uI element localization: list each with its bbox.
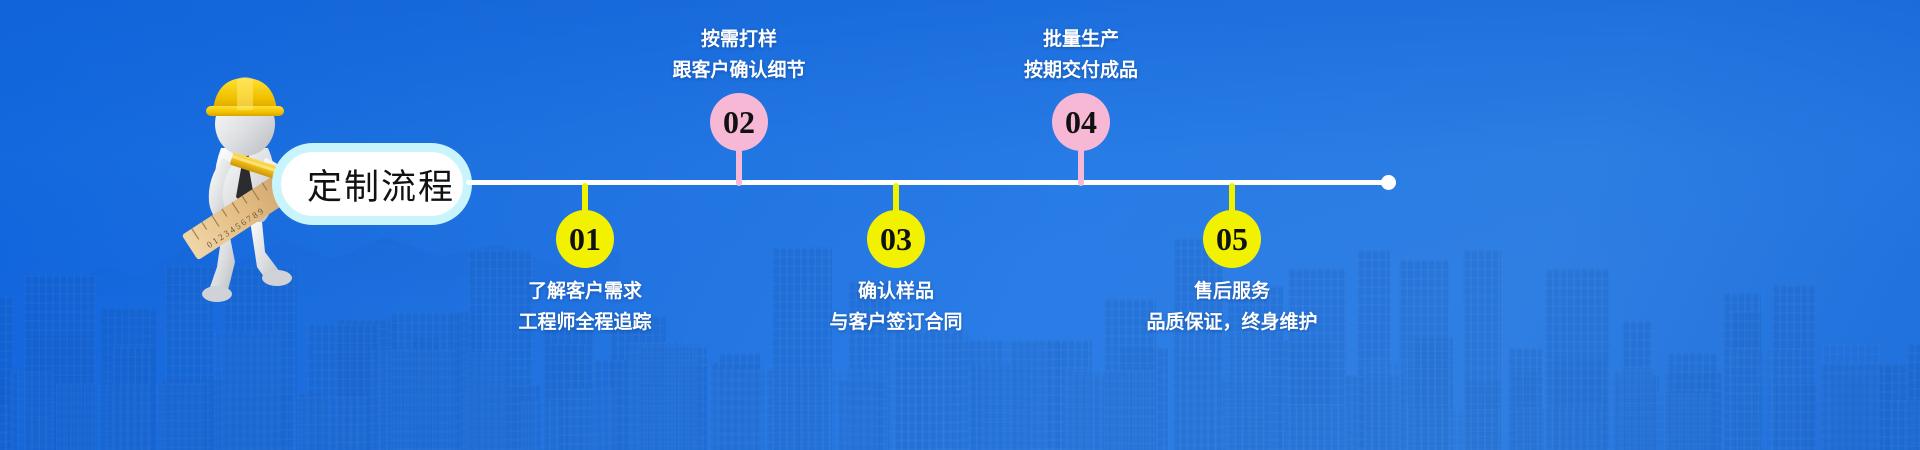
- node-number-badge[interactable]: 05: [1203, 210, 1261, 268]
- building-silhouette: [1890, 400, 1920, 450]
- node-caption: 按需打样跟客户确认细节: [539, 24, 939, 86]
- node-caption: 售后服务品质保证，终身维护: [1032, 276, 1432, 338]
- building-silhouette: [1822, 344, 1880, 450]
- building-silhouette: [568, 389, 617, 450]
- node-number-badge[interactable]: 03: [867, 210, 925, 268]
- node-caption-line: 批量生产: [881, 24, 1281, 55]
- node-caption: 批量生产按期交付成品: [881, 24, 1281, 86]
- node-caption-line: 按需打样: [539, 24, 939, 55]
- building-silhouette: [886, 331, 969, 450]
- custom-process-banner: 0 1 2 3 4 5 6 7 8 9 定制流程 01了解客户需求工程师全程追踪…: [0, 0, 1920, 450]
- building-silhouette: [1282, 407, 1351, 450]
- building-silhouette: [981, 340, 1058, 450]
- building-silhouette: [372, 350, 456, 450]
- node-number-badge[interactable]: 04: [1052, 93, 1110, 151]
- building-silhouette: [1364, 362, 1405, 450]
- building-silhouette: [214, 332, 281, 450]
- node-caption-line: 跟客户确认细节: [539, 55, 939, 86]
- node-caption-line: 按期交付成品: [881, 55, 1281, 86]
- building-silhouette: [801, 369, 876, 450]
- node-stem: [1078, 146, 1084, 186]
- building-silhouette: [156, 384, 205, 450]
- building-silhouette: [1516, 407, 1603, 450]
- building-silhouette: [1172, 335, 1266, 450]
- node-stem: [736, 146, 742, 186]
- building-silhouette: [1065, 370, 1156, 450]
- building-silhouette: [629, 342, 698, 450]
- building-silhouette: [466, 352, 507, 450]
- node-number-badge[interactable]: 01: [556, 210, 614, 268]
- timeline-end-dot: [1381, 175, 1396, 190]
- node-number-badge[interactable]: 02: [710, 93, 768, 151]
- building-silhouette: [56, 385, 151, 450]
- building-silhouette: [1407, 409, 1500, 450]
- building-silhouette: [294, 397, 366, 450]
- timeline-line: [466, 180, 1396, 185]
- building-silhouette: [521, 401, 561, 450]
- building-silhouette: [0, 405, 8, 450]
- node-caption-line: 售后服务: [1032, 276, 1432, 307]
- building-silhouette: [709, 369, 797, 450]
- page-title: 定制流程: [307, 159, 455, 210]
- building-silhouette: [1612, 369, 1654, 450]
- building-silhouette: [1657, 393, 1714, 450]
- process-title-pill: 定制流程: [272, 143, 472, 225]
- node-caption-line: 品质保证，终身维护: [1032, 307, 1432, 338]
- building-silhouette: [10, 371, 53, 450]
- building-silhouette: [1722, 348, 1805, 450]
